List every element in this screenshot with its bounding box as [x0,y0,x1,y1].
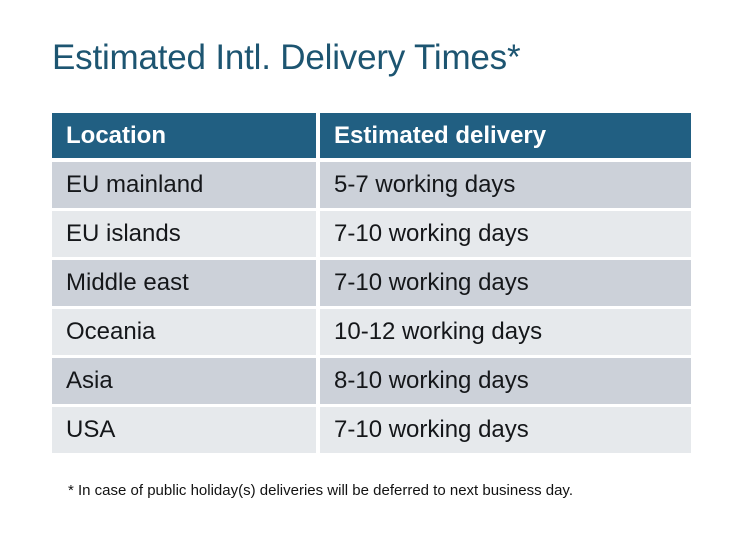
column-header-estimated-delivery: Estimated delivery [320,113,691,158]
table-row: Asia 8-10 working days [52,358,691,404]
footnote-text: * In case of public holiday(s) deliverie… [68,481,573,501]
cell-delivery: 5-7 working days [320,162,691,208]
cell-location: USA [52,407,316,453]
page-title: Estimated Intl. Delivery Times* [52,36,520,80]
cell-delivery: 8-10 working days [320,358,691,404]
cell-delivery: 7-10 working days [320,407,691,453]
delivery-times-page: Estimated Intl. Delivery Times* Location… [0,0,745,536]
cell-location: Oceania [52,309,316,355]
cell-delivery: 7-10 working days [320,260,691,306]
column-header-location: Location [52,113,316,158]
delivery-times-table: Location Estimated delivery EU mainland … [52,113,691,453]
table-row: Middle east 7-10 working days [52,260,691,306]
cell-delivery: 10-12 working days [320,309,691,355]
table-row: Oceania 10-12 working days [52,309,691,355]
table-row: EU mainland 5-7 working days [52,162,691,208]
table-row: USA 7-10 working days [52,407,691,453]
table-header-row: Location Estimated delivery [52,113,691,158]
table-row: EU islands 7-10 working days [52,211,691,257]
cell-delivery: 7-10 working days [320,211,691,257]
cell-location: EU islands [52,211,316,257]
cell-location: Middle east [52,260,316,306]
cell-location: Asia [52,358,316,404]
cell-location: EU mainland [52,162,316,208]
